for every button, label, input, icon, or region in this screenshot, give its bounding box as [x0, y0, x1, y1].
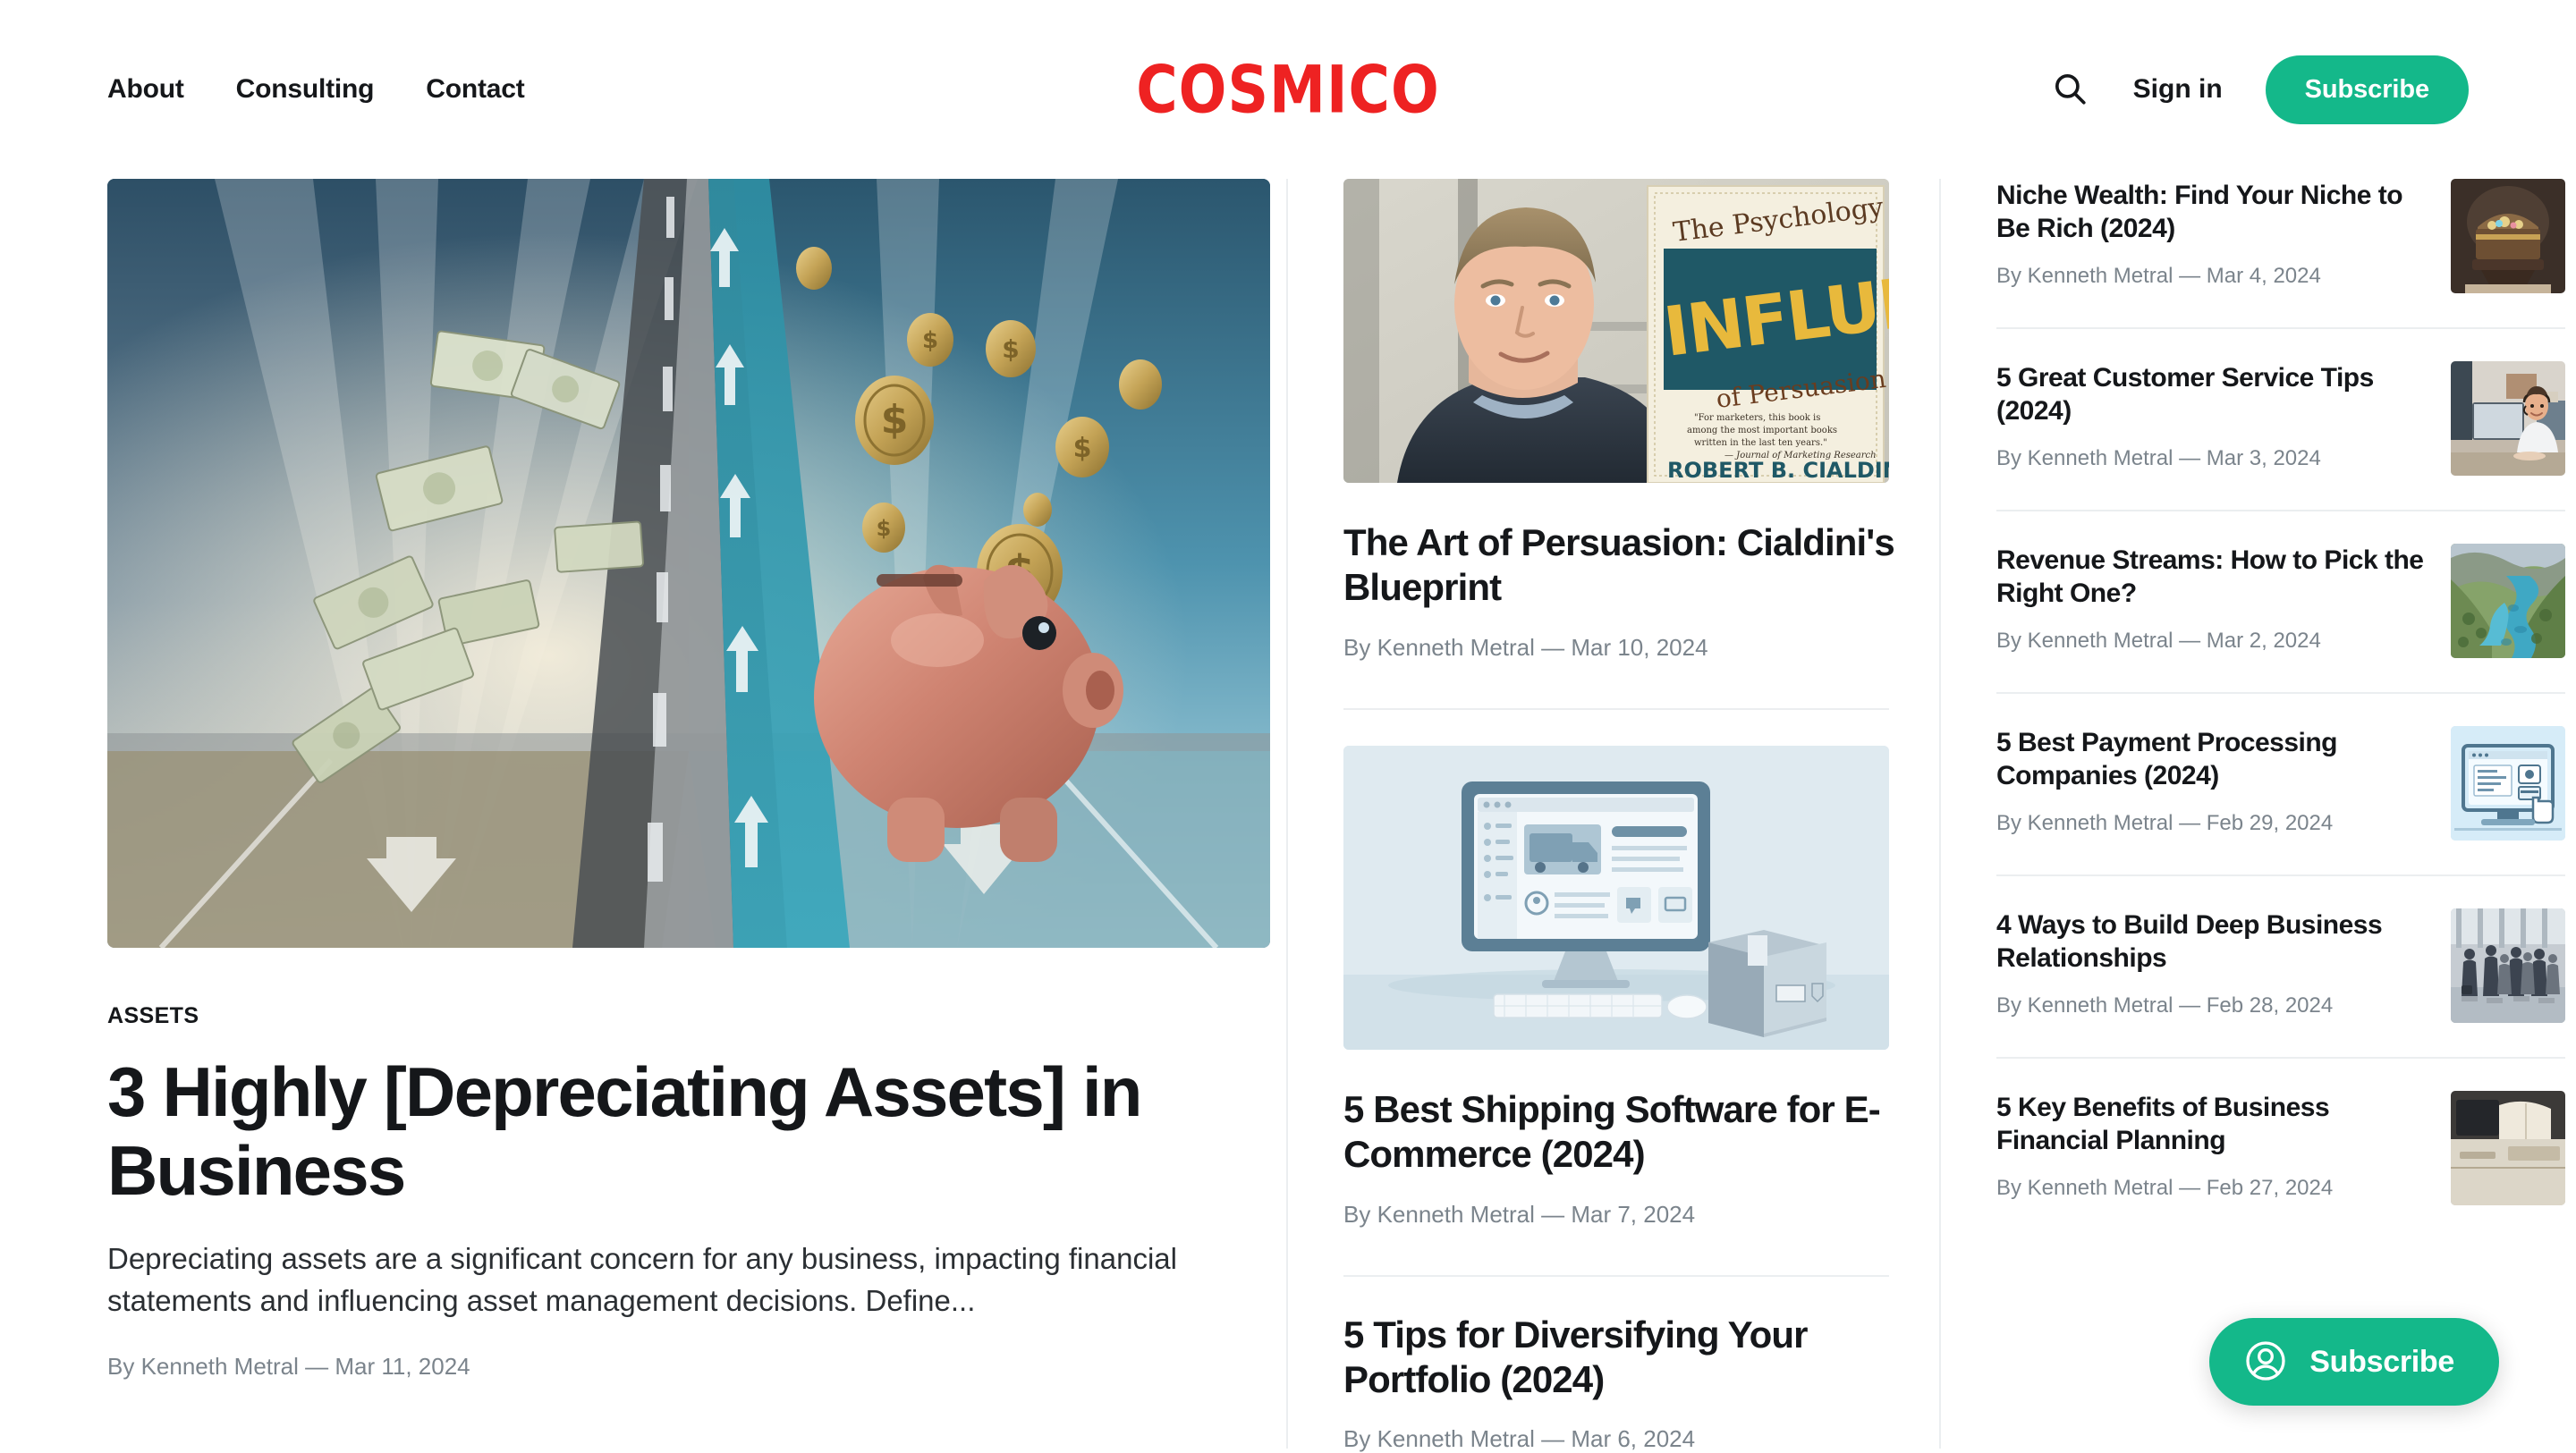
divider — [1343, 708, 1889, 710]
latest-post-column: Niche Wealth: Find Your Niche to Be Rich… — [1939, 179, 2565, 1449]
business-networking-art — [2451, 908, 2565, 1023]
divider — [1996, 874, 2565, 876]
post-card-shipping-software[interactable]: 5 Best Shipping Software for E-Commerce … — [1343, 746, 1903, 1229]
svg-text:$: $ — [877, 516, 892, 541]
financial-planning-desk-art — [2451, 1091, 2565, 1205]
user-circle-icon — [2243, 1339, 2288, 1386]
subscribe-button[interactable]: Subscribe — [2266, 55, 2469, 124]
treasure-chest-art — [2451, 179, 2565, 293]
post-feed: $ $ $ $ $ $ $ — [0, 179, 2576, 1449]
list-item[interactable]: 5 Great Customer Service Tips (2024) By … — [1996, 361, 2565, 476]
nav-link-about[interactable]: About — [107, 74, 184, 105]
header-actions: Sign in Subscribe — [2049, 55, 2469, 124]
post-title[interactable]: 5 Key Benefits of Business Financial Pla… — [1996, 1091, 2424, 1157]
post-thumbnail[interactable] — [2451, 1091, 2565, 1205]
divider — [1996, 692, 2565, 694]
post-thumbnail[interactable] — [2451, 908, 2565, 1023]
secondary-post-column: The Psychology INFLUENCE of Persuasion "… — [1286, 179, 1903, 1449]
list-item[interactable]: Niche Wealth: Find Your Niche to Be Rich… — [1996, 179, 2565, 293]
list-item[interactable]: 4 Ways to Build Deep Business Relationsh… — [1996, 908, 2565, 1023]
nav-link-consulting[interactable]: Consulting — [236, 74, 375, 105]
river-streams-art — [2451, 544, 2565, 658]
post-byline: By Kenneth Metral — Feb 29, 2024 — [1996, 808, 2424, 838]
site-logo[interactable]: COSMICO — [1140, 57, 1437, 122]
post-title[interactable]: 5 Tips for Diversifying Your Portfolio (… — [1343, 1313, 1903, 1403]
svg-text:"For marketers, this book is: "For marketers, this book is — [1694, 413, 1820, 423]
site-header: About Consulting Contact COSMICO Sign in… — [0, 0, 2576, 179]
post-thumbnail[interactable] — [2451, 179, 2565, 293]
search-icon — [2051, 70, 2089, 110]
nav-link-contact[interactable]: Contact — [426, 74, 524, 105]
customer-service-agent-art — [2451, 361, 2565, 476]
post-title[interactable]: 5 Best Payment Processing Companies (202… — [1996, 726, 2424, 792]
list-item[interactable]: 5 Best Payment Processing Companies (202… — [1996, 726, 2565, 841]
post-thumbnail[interactable] — [2451, 544, 2565, 658]
list-item[interactable]: Revenue Streams: How to Pick the Right O… — [1996, 544, 2565, 658]
post-card-diversifying-portfolio[interactable]: 5 Tips for Diversifying Your Portfolio (… — [1343, 1313, 1903, 1453]
svg-text:written in the last ten years.: written in the last ten years." — [1694, 438, 1827, 448]
divider — [1996, 327, 2565, 329]
svg-text:$: $ — [922, 327, 938, 354]
post-byline: By Kenneth Metral — Mar 2, 2024 — [1996, 626, 2424, 655]
post-thumbnail[interactable] — [1343, 746, 1889, 1050]
shipping-dashboard-art — [1343, 746, 1889, 1050]
svg-text:$: $ — [881, 397, 909, 443]
post-title[interactable]: Revenue Streams: How to Pick the Right O… — [1996, 544, 2424, 610]
post-byline: By Kenneth Metral — Feb 27, 2024 — [1996, 1173, 2424, 1203]
post-byline: By Kenneth Metral — Mar 7, 2024 — [1343, 1201, 1903, 1229]
featured-post-byline: By Kenneth Metral — Mar 11, 2024 — [107, 1353, 1270, 1381]
svg-text:$: $ — [1073, 433, 1092, 464]
featured-post-excerpt: Depreciating assets are a significant co… — [107, 1238, 1270, 1322]
featured-image-art: $ $ $ $ $ $ $ — [107, 179, 1270, 948]
post-title[interactable]: 5 Best Shipping Software for E-Commerce … — [1343, 1087, 1903, 1178]
payment-processing-art — [2451, 726, 2565, 841]
primary-navigation: About Consulting Contact — [107, 74, 525, 105]
post-byline: By Kenneth Metral — Feb 28, 2024 — [1996, 991, 2424, 1020]
cialdini-portrait-art: The Psychology INFLUENCE of Persuasion "… — [1343, 179, 1889, 483]
search-button[interactable] — [2049, 69, 2090, 110]
post-thumbnail[interactable] — [2451, 726, 2565, 841]
svg-text:ROBERT B. CIALDINI, PH.D.: ROBERT B. CIALDINI, PH.D. — [1667, 458, 1889, 483]
featured-post-tag[interactable]: ASSETS — [107, 1003, 1270, 1029]
post-byline: By Kenneth Metral — Mar 3, 2024 — [1996, 444, 2424, 473]
post-title[interactable]: Niche Wealth: Find Your Niche to Be Rich… — [1996, 179, 2424, 245]
post-thumbnail[interactable] — [2451, 361, 2565, 476]
site-logo-text: COSMICO — [1136, 51, 1440, 128]
svg-text:$: $ — [1002, 334, 1019, 364]
post-title[interactable]: 5 Great Customer Service Tips (2024) — [1996, 361, 2424, 427]
divider — [1343, 1275, 1889, 1277]
divider — [1996, 510, 2565, 511]
portal-subscribe-button[interactable]: Subscribe — [2209, 1318, 2499, 1406]
featured-post-title[interactable]: 3 Highly [Depreciating Assets] in Busine… — [107, 1052, 1270, 1210]
post-title[interactable]: The Art of Persuasion: Cialdini's Bluepr… — [1343, 520, 1903, 611]
featured-post: $ $ $ $ $ $ $ — [107, 179, 1270, 1449]
sign-in-link[interactable]: Sign in — [2133, 74, 2223, 105]
post-card-persuasion[interactable]: The Psychology INFLUENCE of Persuasion "… — [1343, 179, 1903, 662]
list-item[interactable]: 5 Key Benefits of Business Financial Pla… — [1996, 1091, 2565, 1205]
portal-subscribe-label: Subscribe — [2309, 1345, 2454, 1380]
divider — [1996, 1057, 2565, 1059]
post-thumbnail[interactable]: The Psychology INFLUENCE of Persuasion "… — [1343, 179, 1889, 483]
featured-post-image[interactable]: $ $ $ $ $ $ $ — [107, 179, 1270, 948]
post-title[interactable]: 4 Ways to Build Deep Business Relationsh… — [1996, 908, 2424, 975]
svg-text:among the most important books: among the most important books — [1687, 426, 1837, 435]
post-byline: By Kenneth Metral — Mar 4, 2024 — [1996, 261, 2424, 291]
post-byline: By Kenneth Metral — Mar 10, 2024 — [1343, 634, 1903, 662]
post-byline: By Kenneth Metral — Mar 6, 2024 — [1343, 1425, 1903, 1453]
